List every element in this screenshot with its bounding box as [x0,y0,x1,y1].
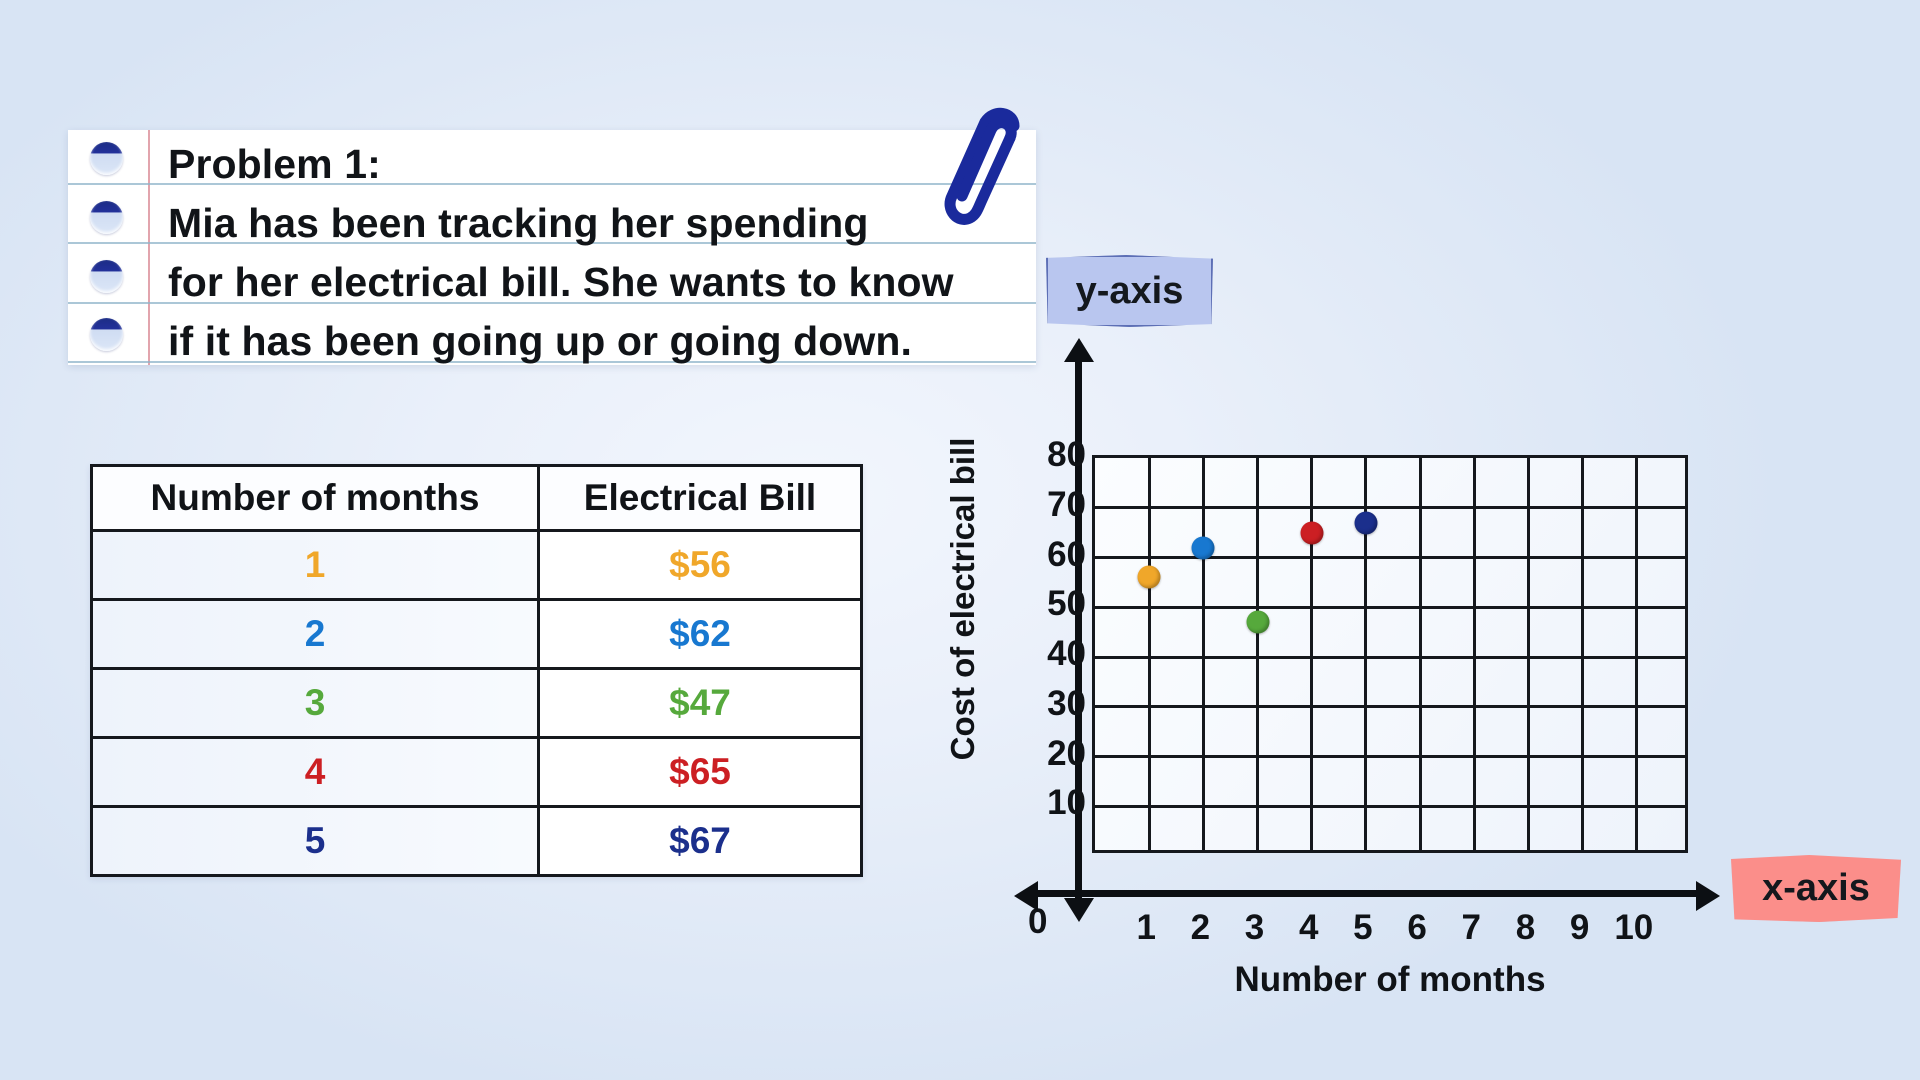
grid-line-vertical [1581,458,1584,850]
notebook-hole-punch [90,260,123,293]
y-axis-tick-label: 30 [966,684,1086,724]
cell-bill: $47 [539,669,862,738]
problem-title: Problem 1: [168,141,381,188]
data-point [1354,511,1377,534]
x-axis-arrow-right-icon [1696,881,1720,911]
notebook-hole-punch [90,201,123,234]
y-axis-tick-label: 50 [966,584,1086,624]
table-row: 4$65 [92,738,862,807]
sticky-note-x-axis-label: x-axis [1762,867,1870,910]
cell-bill: $56 [539,531,862,600]
x-axis-tick-label: 4 [1282,908,1336,948]
grid-line-horizontal [1095,755,1685,758]
grid-line-vertical [1527,458,1530,850]
grid-line-horizontal [1095,506,1685,509]
x-axis-tick-label: 2 [1173,908,1227,948]
notebook-hole-punch [90,142,123,175]
data-table: Number of months Electrical Bill 1$562$6… [90,464,863,877]
x-axis-arrow-left-icon [1014,881,1038,911]
x-axis-title: Number of months [1100,960,1680,1000]
x-axis-tick-label: 8 [1498,908,1552,948]
x-axis-tick-label: 5 [1336,908,1390,948]
data-point [1246,611,1269,634]
notebook-paper: Problem 1: Mia has been tracking her spe… [68,130,1036,365]
x-axis-line [1035,890,1705,897]
column-header-months: Number of months [92,466,539,531]
plot-area [1092,455,1688,853]
sticky-note-y-axis-label: y-axis [1076,270,1184,313]
problem-line-3: if it has been going up or going down. [168,318,912,365]
x-axis-tick-label: 6 [1390,908,1444,948]
grid-line-vertical [1310,458,1313,850]
problem-line-1: Mia has been tracking her spending [168,200,869,247]
data-point [1300,521,1323,544]
x-axis-tick-label: 7 [1444,908,1498,948]
x-axis-tick-label: 1 [1119,908,1173,948]
grid-line-vertical [1256,458,1259,850]
grid-line-vertical [1473,458,1476,850]
y-axis-tick-label: 40 [966,634,1086,674]
sticky-note-x-axis: x-axis [1731,855,1901,922]
cell-month: 2 [92,600,539,669]
notebook-margin-line [148,130,150,365]
problem-line-2: for her electrical bill. She wants to kn… [168,259,954,306]
y-axis-arrow-down-icon [1064,898,1094,922]
notebook-hole-punch [90,318,123,351]
grid-line-horizontal [1095,606,1685,609]
grid-line-horizontal [1095,805,1685,808]
grid-line-vertical [1635,458,1638,850]
y-axis-arrow-up-icon [1064,338,1094,362]
table-header-row: Number of months Electrical Bill [92,466,862,531]
x-axis-tick-label: 9 [1553,908,1607,948]
cell-month: 3 [92,669,539,738]
sticky-note-y-axis: y-axis [1046,255,1213,327]
grid-line-horizontal [1095,556,1685,559]
x-axis-tick-label: 10 [1607,908,1661,948]
y-axis-tick-label: 60 [966,535,1086,575]
grid-line-vertical [1148,458,1151,850]
table-row: 2$62 [92,600,862,669]
grid-line-horizontal [1095,656,1685,659]
cell-bill: $65 [539,738,862,807]
table-row: 3$47 [92,669,862,738]
cell-month: 1 [92,531,539,600]
x-axis-tick-label: 3 [1228,908,1282,948]
table-row: 5$67 [92,807,862,876]
cell-bill: $67 [539,807,862,876]
cell-month: 5 [92,807,539,876]
y-axis-tick-label: 80 [966,435,1086,475]
cell-month: 4 [92,738,539,807]
paperclip-icon [936,100,1044,240]
scatter-chart: Cost of electrical bill Number of months… [900,280,1910,1080]
grid-line-vertical [1202,458,1205,850]
data-point [1138,566,1161,589]
table-row: 1$56 [92,531,862,600]
grid-line-horizontal [1095,705,1685,708]
data-point [1192,536,1215,559]
y-axis-tick-label: 20 [966,734,1086,774]
y-axis-tick-label: 10 [966,783,1086,823]
grid-line-vertical [1419,458,1422,850]
slide-canvas: Problem 1: Mia has been tracking her spe… [0,0,1920,1080]
cell-bill: $62 [539,600,862,669]
y-axis-tick-label: 70 [966,485,1086,525]
column-header-bill: Electrical Bill [539,466,862,531]
